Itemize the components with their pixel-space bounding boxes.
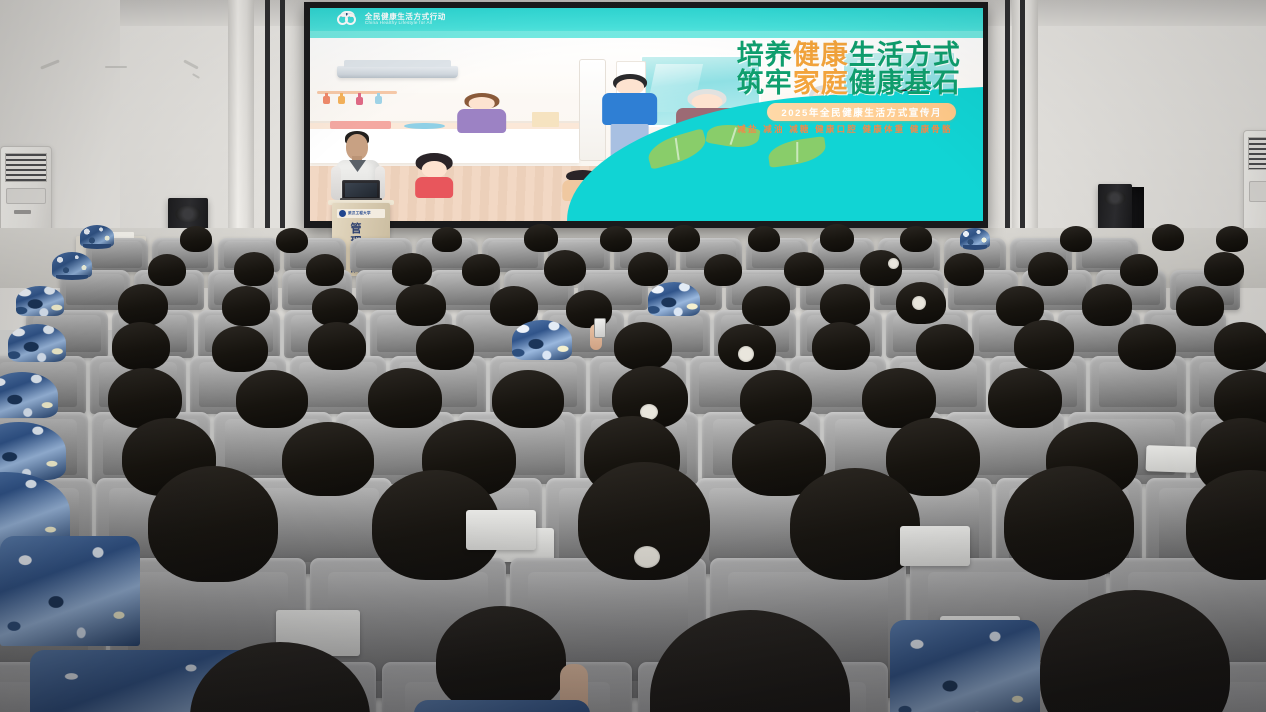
head (1060, 226, 1092, 252)
attendee-b-15 (1204, 252, 1244, 288)
attendee-f-3 (282, 422, 374, 508)
speaker-arm-left (331, 166, 341, 200)
camo-cap (960, 228, 990, 248)
head (812, 322, 870, 370)
wall-mark-2 (105, 66, 127, 68)
slide-headline-line2: 筑牢家庭健康基石 (737, 70, 961, 98)
head (436, 606, 566, 712)
head (1214, 322, 1266, 370)
headline-l1-b: 健康 (793, 40, 849, 70)
head (544, 250, 586, 286)
attendee-b-10 (784, 252, 824, 288)
attendee-a-3 (276, 228, 308, 256)
attendee-a-10 (900, 226, 932, 254)
head (1082, 284, 1132, 326)
head (748, 226, 780, 252)
head (704, 254, 742, 286)
attendee-foreground-right-center (620, 610, 860, 712)
head (1216, 226, 1248, 252)
healthy-lifestyle-logo-icon (337, 11, 360, 28)
attendee-a-13 (1152, 224, 1184, 254)
head (1028, 252, 1068, 286)
ac-grille-right (1248, 137, 1266, 170)
ac-grille-left (5, 153, 47, 183)
camo-uniform-shoulders (0, 536, 140, 646)
illustration-utensil-3 (358, 93, 361, 100)
head-camo-cap (648, 282, 700, 316)
attendee-b-5 (392, 253, 432, 287)
head (944, 253, 984, 286)
headline-l1-a: 培养 (737, 40, 793, 70)
head (312, 288, 358, 326)
head (148, 254, 186, 286)
illustration-utensil-2 (340, 93, 343, 99)
illustration-range-hood (337, 66, 458, 79)
illustration-utensil-1 (325, 93, 328, 99)
attendee-b-6 (462, 254, 500, 288)
head (988, 368, 1062, 428)
head (916, 324, 974, 370)
attendee-b-12 (944, 253, 984, 288)
head (1204, 252, 1244, 286)
attendee-mid-right-camo (890, 580, 1040, 712)
head (600, 226, 632, 252)
attendee-foreground-center (400, 606, 590, 712)
head (1004, 466, 1134, 580)
attendee-b-13 (1028, 252, 1068, 288)
head (306, 254, 344, 286)
mobile-phone (594, 318, 606, 338)
attendee-b-14 (1120, 254, 1158, 288)
head (396, 284, 446, 326)
attendee-b-9 (704, 254, 742, 288)
illustration-jar (532, 112, 559, 127)
head (1040, 590, 1230, 712)
attendee-a-11 (960, 228, 990, 254)
attendee-c-7 (566, 290, 612, 336)
slide-headline: 培养健康生活方式 筑牢家庭健康基石 (737, 42, 961, 97)
head (1186, 470, 1266, 580)
headline-l2-b: 家庭 (793, 68, 849, 98)
hair-scrunchie (738, 346, 754, 362)
head (112, 322, 170, 370)
head-camo-cap (512, 320, 572, 360)
camo-uniform-shoulders (414, 700, 590, 712)
head (820, 224, 854, 252)
attendee-b-3 (234, 252, 274, 288)
projection-screen-surface: 全民健康生活方式行动 China Healthy Lifestyle for A… (310, 8, 983, 221)
camo-uniform-shoulders (890, 620, 1040, 712)
ac-panel-right (1249, 181, 1266, 201)
camo-cap (80, 225, 114, 247)
attendee-a-8 (748, 226, 780, 254)
slide-keywords: 减盐 减油 减糖 健康口腔 健康体重 健康骨骼 (737, 123, 952, 135)
hair-scrunchie (888, 258, 899, 269)
campaign-logo: 全民健康生活方式行动 China Healthy Lifestyle for A… (337, 11, 446, 28)
camo-cap (52, 252, 92, 278)
audience-seating (0, 210, 1266, 712)
head (282, 422, 374, 496)
head (180, 226, 212, 252)
head (1152, 224, 1184, 251)
folding-desk-2[interactable] (1146, 445, 1197, 473)
head (650, 610, 850, 712)
head (784, 252, 824, 286)
head (742, 286, 790, 326)
attendee-d-1 (8, 324, 66, 378)
attendee-c-3 (222, 286, 270, 330)
ac-panel-left (6, 188, 46, 204)
head-camo-cap (16, 286, 64, 316)
campaign-logo-en: China Healthy Lifestyle for All (365, 21, 446, 26)
head (614, 322, 672, 370)
attendee-a-1 (80, 225, 114, 255)
attendee-d-4 (308, 322, 366, 378)
campaign-logo-text: 全民健康生活方式行动 China Healthy Lifestyle for A… (365, 13, 446, 26)
pillar-left-trim-b (280, 0, 285, 245)
attendee-a-7 (668, 225, 700, 255)
attendee-c-1 (16, 286, 64, 328)
head (190, 642, 370, 712)
head (668, 225, 700, 252)
head (276, 228, 308, 253)
head (368, 368, 442, 428)
attendee-foreground-far-right (1020, 590, 1250, 712)
head-camo-cap (0, 372, 58, 418)
attendee-g-4 (578, 462, 710, 600)
attendee-d-12 (1118, 324, 1176, 378)
head (212, 326, 268, 372)
head-camo-cap (8, 324, 66, 362)
projection-screen-frame: 全民健康生活方式行动 China Healthy Lifestyle for A… (304, 2, 988, 228)
hair-scrunchie (912, 296, 926, 310)
illustration-child-left (411, 153, 458, 200)
head (118, 284, 168, 326)
head (236, 370, 308, 428)
head (222, 286, 270, 326)
headline-l2-a: 筑牢 (737, 68, 793, 98)
head (416, 324, 474, 370)
head (462, 254, 500, 286)
headline-l1-c: 生活方式 (849, 40, 961, 70)
attendee-b-7 (544, 250, 586, 288)
laptop-screen (345, 183, 377, 197)
head (900, 226, 932, 252)
illustration-woman-cooking (451, 93, 512, 140)
attendee-a-9 (820, 224, 854, 254)
head (308, 322, 366, 370)
attendee-left-camo-mid (0, 492, 140, 642)
attendee-a-4 (432, 227, 462, 255)
head (234, 252, 274, 286)
head (524, 224, 558, 252)
head (1118, 324, 1176, 370)
lecture-hall-photo: 全民健康生活方式行动 China Healthy Lifestyle for A… (0, 0, 1266, 712)
attendee-a-2 (180, 226, 212, 256)
head (1176, 286, 1224, 326)
hair-scrunchie (634, 546, 660, 568)
illustration-shelf (317, 91, 398, 94)
head (820, 284, 870, 326)
headline-l2-c: 健康基石 (849, 68, 961, 98)
attendee-foreground-ponytail (170, 642, 380, 712)
attendee-g-7 (1186, 470, 1266, 600)
head (432, 227, 462, 252)
folding-desk-7[interactable] (466, 510, 536, 550)
slide-headline-line1: 培养健康生活方式 (737, 42, 961, 70)
head (628, 252, 668, 286)
illustration-utensil-4 (377, 93, 380, 99)
slide-subtitle-pill: 2025年全民健康生活方式宣传月 (767, 103, 956, 121)
pillar-left (228, 0, 254, 232)
head (1014, 320, 1074, 370)
folding-desk-8[interactable] (900, 526, 970, 566)
attendee-a-6 (600, 226, 632, 254)
head (1120, 254, 1158, 286)
attendee-b-4 (306, 254, 344, 288)
attendee-b-1 (52, 252, 92, 286)
attendee-a-14 (1216, 226, 1248, 254)
attendee-c-11 (896, 282, 946, 330)
laptop-lid (342, 180, 380, 200)
head (392, 253, 432, 286)
attendee-b-2 (148, 254, 186, 288)
speaker-cone-right-top (1104, 191, 1126, 205)
pillar-left-trim-a (265, 0, 270, 245)
attendee-a-12 (1060, 226, 1092, 254)
